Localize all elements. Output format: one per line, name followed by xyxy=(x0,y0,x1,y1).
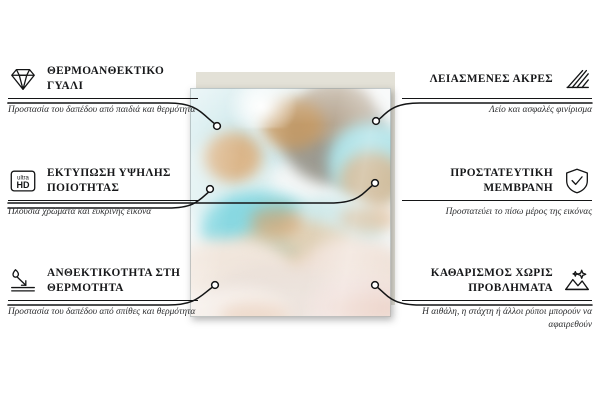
infographic-canvas: ΘΕΡΜΟΑΝΘΕΚΤΙΚΟ ΓΥΑΛΙ Προστασία του δαπέδ… xyxy=(0,0,600,400)
feature-title: ΛΕΙΑΣΜΕΝΕΣ ΑΚΡΕΣ xyxy=(430,72,553,87)
feature-title: ΑΝΘΕΚΤΙΚΟΤΗΤΑ ΣΤΗ ΘΕΡΜΟΤΗΤΑ xyxy=(47,266,198,296)
feature-header: ΛΕΙΑΣΜΕΝΕΣ ΑΚΡΕΣ xyxy=(402,64,592,94)
feature-description: Προστασία του δαπέδου από σπίθες και θερ… xyxy=(8,306,198,319)
feature-protective-membrane: ΠΡΟΣΤΑΤΕΥΤΙΚΗ ΜΕΜΒΡΑΝΗ Προστατεύει το πί… xyxy=(402,166,592,219)
polished-edges-icon xyxy=(562,64,592,94)
feature-easy-cleaning: ΚΑΘΑΡΙΣΜΟΣ ΧΩΡΙΣ ΠΡΟΒΛΗΜΑΤΑ Η αιθάλη, η … xyxy=(402,266,592,333)
feature-header: ΑΝΘΕΚΤΙΚΟΤΗΤΑ ΣΤΗ ΘΕΡΜΟΤΗΤΑ xyxy=(8,266,198,296)
easy-clean-icon xyxy=(562,266,592,296)
divider xyxy=(402,300,592,301)
feature-title: ΕΚΤΥΠΩΣΗ ΥΨΗΛΗΣ ΠΟΙΟΤΗΤΑΣ xyxy=(47,166,198,196)
glass-edge-highlight xyxy=(190,88,391,317)
ultra-hd-icon: ultra HD xyxy=(8,166,38,196)
heat-resistance-icon xyxy=(8,266,38,296)
diamond-icon xyxy=(8,64,38,94)
feature-description: Προστατεύει το πίσω μέρος της εικόνας xyxy=(402,206,592,219)
feature-thermal-glass: ΘΕΡΜΟΑΝΘΕΚΤΙΚΟ ΓΥΑΛΙ Προστασία του δαπέδ… xyxy=(8,64,198,117)
shield-check-icon xyxy=(562,166,592,196)
feature-description: Η αιθάλη, η στάχτη ή άλλοι ρύποι μπορούν… xyxy=(402,306,592,333)
feature-description: Λείο και ασφαλές φινίρισμα xyxy=(402,104,592,117)
divider xyxy=(402,98,592,99)
divider xyxy=(8,300,198,301)
feature-header: ultra HD ΕΚΤΥΠΩΣΗ ΥΨΗΛΗΣ ΠΟΙΟΤΗΤΑΣ xyxy=(8,166,198,196)
product-glass-panel xyxy=(190,88,391,317)
divider xyxy=(402,200,592,201)
feature-description: Προστασία του δαπέδου από παιδιά και θερ… xyxy=(8,104,198,117)
feature-title: ΚΑΘΑΡΙΣΜΟΣ ΧΩΡΙΣ ΠΡΟΒΛΗΜΑΤΑ xyxy=(402,266,553,296)
feature-description: Πλούσια χρώματα και ευκρινής εικόνα xyxy=(8,206,198,219)
feature-heat-resistance: ΑΝΘΕΚΤΙΚΟΤΗΤΑ ΣΤΗ ΘΕΡΜΟΤΗΤΑ Προστασία το… xyxy=(8,266,198,319)
feature-title: ΠΡΟΣΤΑΤΕΥΤΙΚΗ ΜΕΜΒΡΑΝΗ xyxy=(402,166,553,196)
feature-header: ΠΡΟΣΤΑΤΕΥΤΙΚΗ ΜΕΜΒΡΑΝΗ xyxy=(402,166,592,196)
divider xyxy=(8,98,198,99)
feature-high-quality-print: ultra HD ΕΚΤΥΠΩΣΗ ΥΨΗΛΗΣ ΠΟΙΟΤΗΤΑΣ Πλούσ… xyxy=(8,166,198,219)
feature-polished-edges: ΛΕΙΑΣΜΕΝΕΣ ΑΚΡΕΣ Λείο και ασφαλές φινίρι… xyxy=(402,64,592,117)
divider xyxy=(8,200,198,201)
feature-header: ΚΑΘΑΡΙΣΜΟΣ ΧΩΡΙΣ ΠΡΟΒΛΗΜΑΤΑ xyxy=(402,266,592,296)
svg-text:HD: HD xyxy=(17,180,30,190)
feature-header: ΘΕΡΜΟΑΝΘΕΚΤΙΚΟ ΓΥΑΛΙ xyxy=(8,64,198,94)
feature-title: ΘΕΡΜΟΑΝΘΕΚΤΙΚΟ ΓΥΑΛΙ xyxy=(47,64,198,94)
